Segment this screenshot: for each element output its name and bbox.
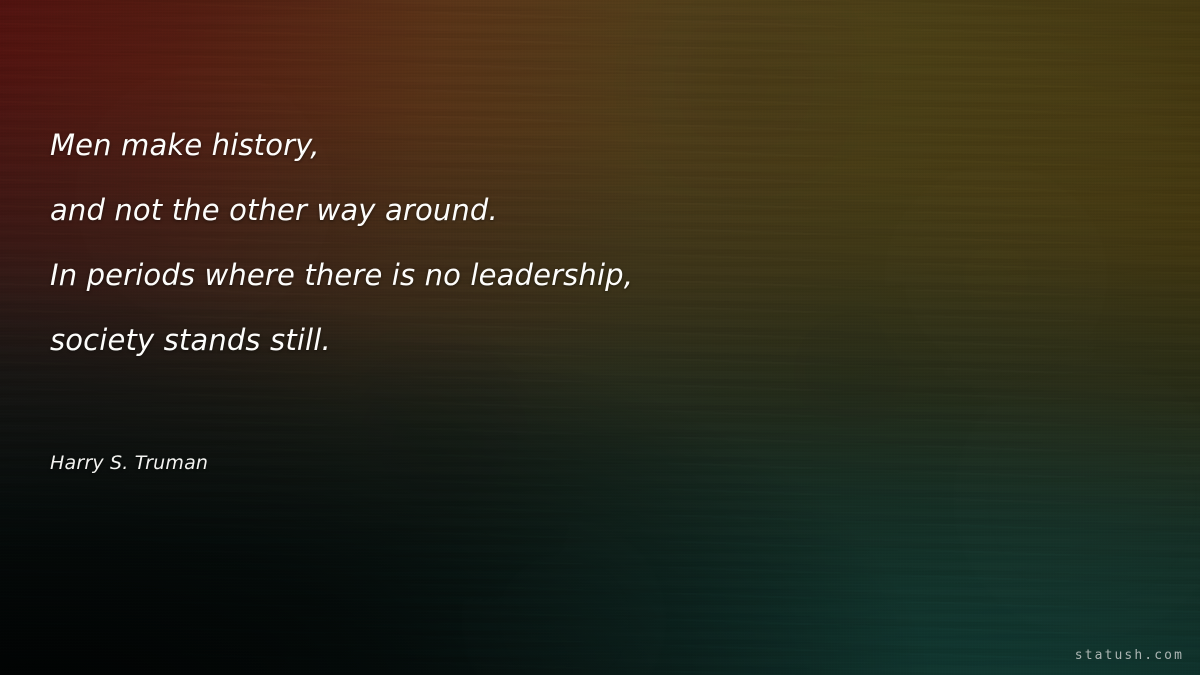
quote-author: Harry S. Truman <box>50 449 208 477</box>
quote-line-2: and not the other way around. <box>50 178 1050 243</box>
quote-line-4: society stands still. <box>50 308 1050 373</box>
quote-text-block: Men make history, and not the other way … <box>50 113 1050 373</box>
quote-line-1: Men make history, <box>50 113 1050 178</box>
quote-line-3: In periods where there is no leadership, <box>50 243 1050 308</box>
quote-content: Men make history, and not the other way … <box>0 0 1200 675</box>
quote-card: Men make history, and not the other way … <box>0 0 1200 675</box>
site-watermark: statush.com <box>1075 647 1184 665</box>
